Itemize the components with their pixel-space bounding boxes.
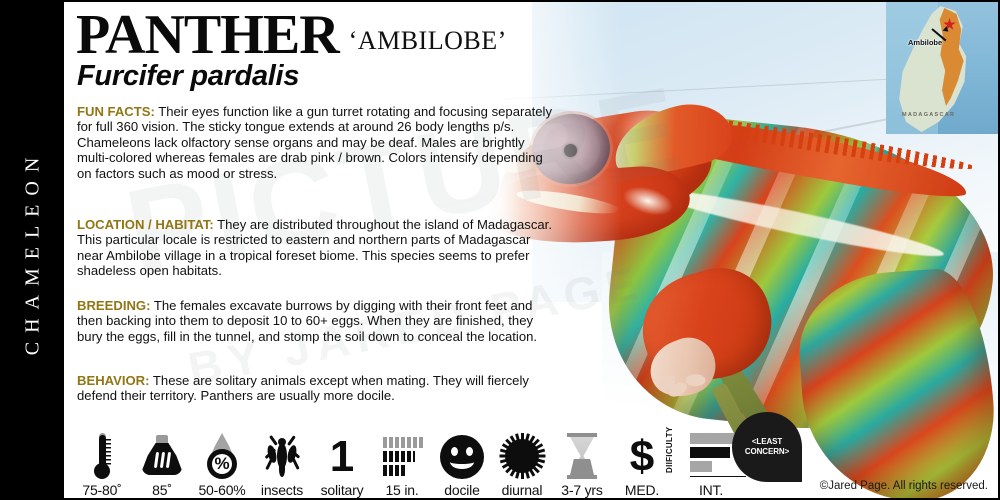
section-location-habitat: LOCATION / HABITAT: They are distributed… xyxy=(77,217,555,279)
section-heading: BEHAVIOR: xyxy=(77,373,150,388)
number-one-icon: 1 xyxy=(330,429,354,479)
care-icon-strip: 75-80˚ 85˚ % xyxy=(72,416,750,498)
care-stat-label: docile xyxy=(444,482,479,498)
humidity-drop-icon: % xyxy=(205,429,239,479)
category-sidebar: CHAMELEON xyxy=(2,2,64,500)
badge-line-2: CONCERN> xyxy=(745,447,789,456)
smiley-face-icon xyxy=(440,429,484,479)
care-stat-label: MED. xyxy=(625,482,659,498)
heat-lamp-icon xyxy=(142,429,182,479)
care-stat-grouping: 1 solitary xyxy=(312,416,372,498)
copyright-notice: ©Jared Page. All rights reserved. xyxy=(820,480,988,492)
scientific-name: Furcifer pardalis xyxy=(77,60,299,93)
care-stat-label: 3-7 yrs xyxy=(561,482,602,498)
sun-burst-icon xyxy=(499,429,545,479)
section-heading: FUN FACTS: xyxy=(77,104,155,119)
care-stat-diet: insects xyxy=(252,416,312,498)
card-content: PANTHER ‘AMBILOBE’ Furcifer pardalis FUN… xyxy=(64,2,1000,500)
care-stat-humidity: % 50-60% xyxy=(192,416,252,498)
care-stat-label: INT. xyxy=(699,482,723,498)
locale-name: ‘AMBILOBE’ xyxy=(349,26,507,56)
care-stat-activity: diurnal xyxy=(492,416,552,498)
care-stat-label: 50-60% xyxy=(198,482,245,498)
dollar-sign-icon: $ xyxy=(630,429,654,479)
care-stat-temperature: 75-80˚ xyxy=(72,416,132,498)
care-stat-temperament: docile xyxy=(432,416,492,498)
care-stat-label: solitary xyxy=(321,482,364,498)
care-stat-cost: $ MED. xyxy=(612,416,672,498)
title-row: PANTHER ‘AMBILOBE’ xyxy=(76,8,507,62)
conservation-status-badge: <LEAST CONCERN> xyxy=(732,412,802,482)
section-fun-facts: FUN FACTS: Their eyes function like a gu… xyxy=(77,104,555,181)
care-stat-size: 15 in. xyxy=(372,416,432,498)
care-stat-label: 85˚ xyxy=(152,482,172,498)
common-name: PANTHER xyxy=(76,8,339,62)
species-care-card: Ambilobe MADAGASCAR xyxy=(0,0,1000,500)
badge-line-1: <LEAST xyxy=(752,437,782,446)
dollar-sign-glyph: $ xyxy=(630,435,654,479)
ruler-icon xyxy=(381,429,423,479)
section-behavior: BEHAVIOR: These are solitary animals exc… xyxy=(77,373,555,404)
conservation-status-text: <LEAST CONCERN> xyxy=(745,437,789,457)
thermometer-icon xyxy=(93,429,111,479)
care-stat-basking: 85˚ xyxy=(132,416,192,498)
insect-icon xyxy=(262,429,302,479)
number-one-glyph: 1 xyxy=(330,435,354,479)
care-stat-label: 15 in. xyxy=(385,482,418,498)
section-breeding: BREEDING: The females excavate burrows b… xyxy=(77,298,555,344)
care-stat-label: insects xyxy=(261,482,303,498)
hourglass-icon xyxy=(567,429,597,479)
care-stat-lifespan: 3-7 yrs xyxy=(552,416,612,498)
section-heading: LOCATION / HABITAT: xyxy=(77,217,214,232)
care-stat-label: diurnal xyxy=(502,482,543,498)
difficulty-axis-label: DIIFICULTY xyxy=(665,427,674,473)
care-stat-label: 75-80˚ xyxy=(82,482,121,498)
category-label: CHAMELEON xyxy=(22,149,45,356)
section-heading: BREEDING: xyxy=(77,298,150,313)
